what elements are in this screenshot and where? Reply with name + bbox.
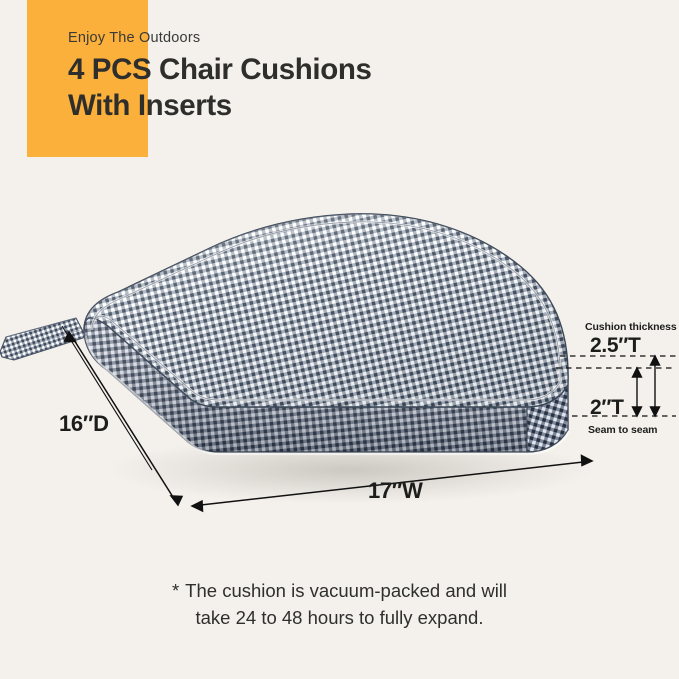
seam-arrow: [633, 368, 642, 416]
seam-label: 2″T: [590, 396, 624, 420]
depth-label: 16″D: [59, 411, 109, 437]
footer-note: *The cushion is vacuum-packed and will t…: [0, 578, 679, 632]
width-label: 17″W: [368, 478, 423, 504]
seam-caption: Seam to seam: [588, 424, 657, 436]
footer-line-1-text: The cushion is vacuum-packed and will: [185, 580, 507, 601]
footer-line-2: take 24 to 48 hours to fully expand.: [0, 605, 679, 632]
thickness-arrow: [651, 356, 660, 416]
asterisk-marker: *: [172, 580, 179, 601]
footer-line-1: *The cushion is vacuum-packed and will: [0, 578, 679, 605]
thickness-label: 2.5″T: [590, 334, 641, 358]
infographic-canvas: Enjoy The Outdoors 4 PCS Chair Cushions …: [0, 0, 679, 679]
thickness-caption: Cushion thickness: [585, 321, 677, 333]
